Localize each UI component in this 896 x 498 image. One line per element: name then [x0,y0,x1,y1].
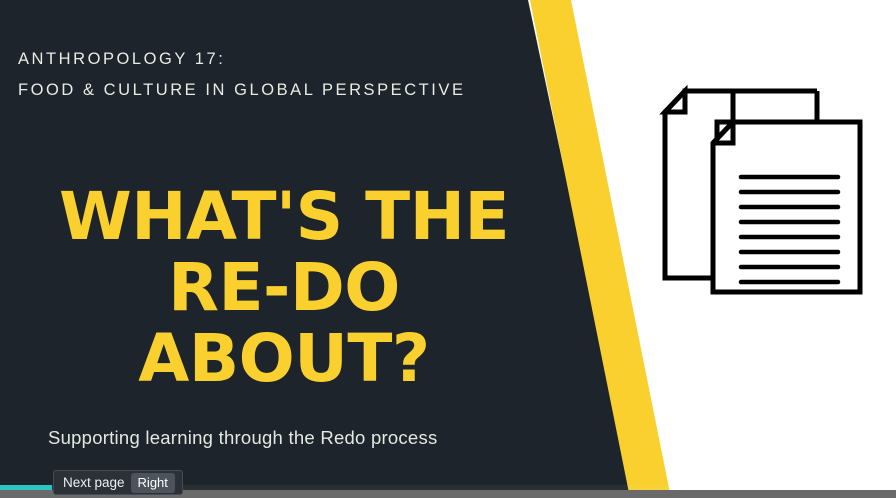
page-title: WHAT'S THE RE-DO ABOUT? [0,181,568,394]
course-heading-line-2: FOOD & CULTURE IN GLOBAL PERSPECTIVE [18,75,498,106]
page-title-line-3: ABOUT? [0,323,568,394]
tooltip-key-badge: Right [131,473,175,493]
page-title-line-1: WHAT'S THE [0,181,568,252]
documents-icon [655,80,870,305]
course-heading-line-1: ANTHROPOLOGY 17: [18,44,498,75]
next-page-tooltip[interactable]: Next page Right [53,470,183,495]
tooltip-label: Next page [61,475,131,490]
course-heading: ANTHROPOLOGY 17: FOOD & CULTURE IN GLOBA… [18,44,498,106]
presentation-slide[interactable]: ANTHROPOLOGY 17: FOOD & CULTURE IN GLOBA… [0,0,896,498]
page-title-line-2: RE-DO [0,252,568,323]
page-subtitle: Supporting learning through the Redo pro… [48,427,437,449]
